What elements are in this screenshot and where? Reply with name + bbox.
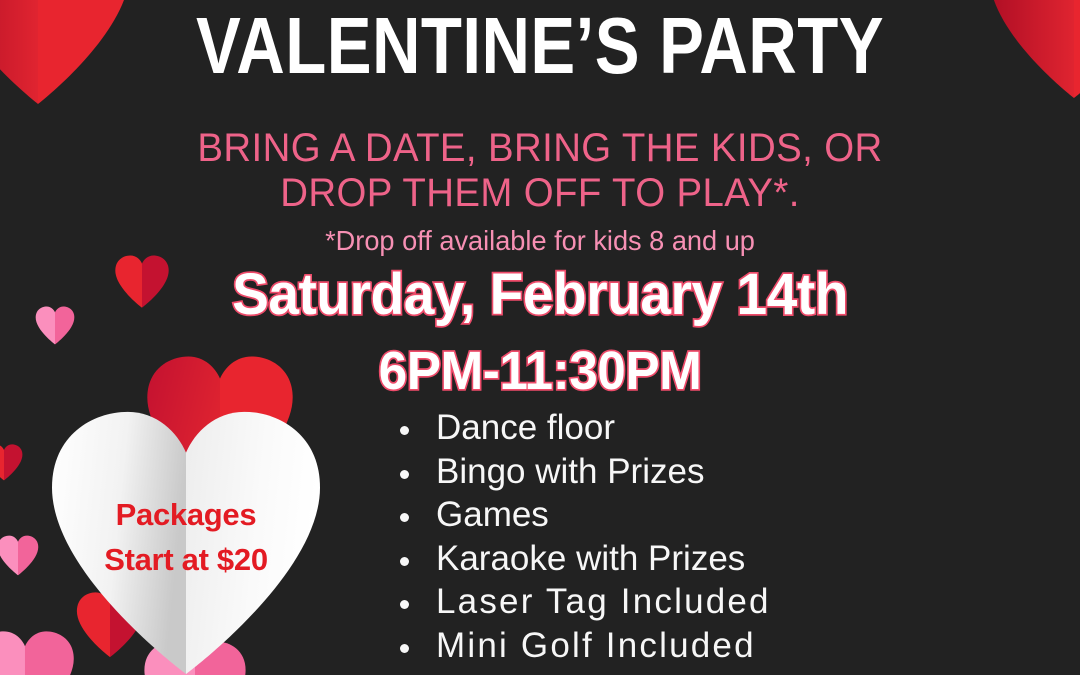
subtitle: BRING A DATE, BRING THE KIDS, OR DROP TH…: [79, 126, 1001, 216]
page-title: VALENTINE’S PARTY: [86, 6, 993, 86]
event-date: Saturday, February 14th: [27, 262, 1053, 328]
feature-item: Bingo with Prizes: [392, 450, 771, 494]
feature-item: Karaoke with Prizes: [392, 537, 771, 581]
feature-item: Mini Golf Included: [392, 624, 771, 668]
dropoff-note: *Drop off available for kids 8 and up: [16, 224, 1064, 258]
corner-heart-top-right-icon: [982, 0, 1080, 98]
event-time: 6PM-11:30PM: [27, 340, 1053, 402]
package-badge-line2: Start at $20: [36, 537, 336, 582]
subtitle-line-1: BRING A DATE, BRING THE KIDS, OR: [79, 126, 1001, 171]
feature-item: Laser Tag Included: [392, 580, 771, 624]
valentines-party-flyer: Packages Start at $20 VALENTINE’S PARTY …: [0, 0, 1080, 675]
small-heart-red-mid-left-icon: [0, 442, 24, 482]
feature-item: Dance floor: [392, 406, 771, 450]
small-heart-pink-mid-left-icon: [0, 534, 40, 576]
subtitle-line-2: DROP THEM OFF TO PLAY*.: [79, 171, 1001, 216]
package-badge-text: Packages Start at $20: [36, 492, 336, 582]
features-list: Dance floorBingo with PrizesGamesKaraoke…: [392, 406, 771, 667]
package-badge-line1: Packages: [36, 492, 336, 537]
feature-item: Games: [392, 493, 771, 537]
